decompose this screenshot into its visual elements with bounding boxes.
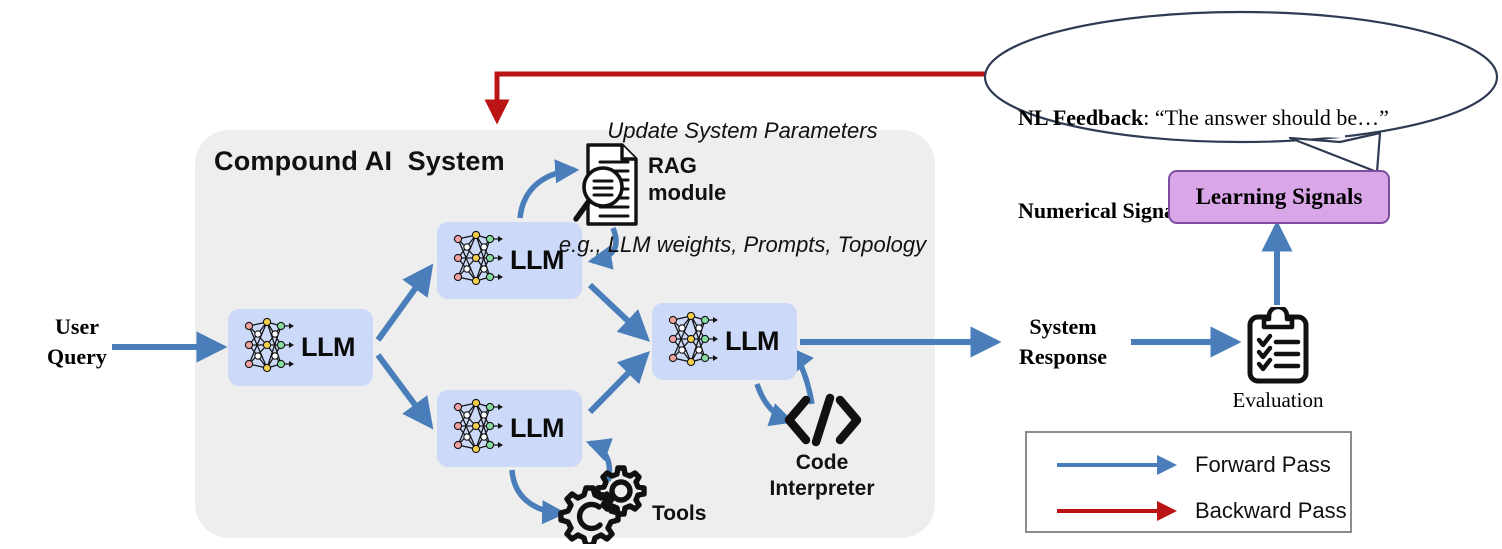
backward-pass-caption: Update System Parameters e.g., LLM weigh… (520, 36, 965, 340)
page-title: Compound AI System (214, 146, 505, 177)
bubble-line-1-bold: NL Feedback (1018, 105, 1143, 130)
learning-signals-box[interactable]: Learning Signals (1168, 170, 1390, 224)
backward-caption-line-2: e.g., LLM weights, Prompts, Topology (520, 226, 965, 264)
user-query-label: User Query (22, 312, 132, 372)
bubble-line-2-bold: Numerical Signals (1018, 198, 1190, 223)
code-interpreter-module[interactable] (782, 392, 864, 453)
tools-module[interactable] (556, 462, 650, 549)
llm-node-label: LLM (301, 332, 355, 363)
llm-node-root[interactable]: LLM (228, 309, 373, 386)
figure-canvas: LLM (0, 0, 1502, 544)
learning-signals-label: Learning Signals (1196, 184, 1363, 210)
neural-network-icon (446, 395, 504, 462)
gears-icon (556, 462, 650, 544)
llm-node-label: LLM (510, 413, 564, 444)
legend-label-forward-pass: Forward Pass (1195, 452, 1331, 478)
feedback-bubble-text: NL Feedback: “The answer should be…” Num… (1018, 40, 1478, 288)
bubble-line-1-rest: : “The answer should be…” (1143, 105, 1389, 130)
tools-label: Tools (652, 502, 706, 526)
arrow-llm-root-to-llm-top (378, 268, 430, 340)
arrow-llm-bottom-to-llm-merge (590, 355, 646, 412)
neural-network-icon (446, 227, 504, 294)
clipboard-check-icon (1243, 307, 1313, 387)
code-interpreter-label: Code Interpreter (747, 450, 897, 502)
backward-pass-arrow-icon (1055, 500, 1185, 522)
code-brackets-icon (782, 392, 864, 448)
arrow-llm-bottom-to-tools (512, 470, 562, 513)
evaluation-module[interactable] (1243, 307, 1313, 392)
legend-item-backward-pass: Backward Pass (1027, 491, 1350, 531)
evaluation-label: Evaluation (1213, 388, 1343, 413)
llm-node-bottom[interactable]: LLM (437, 390, 582, 467)
neural-network-icon (237, 314, 295, 381)
arrow-llm-root-to-llm-bottom (378, 355, 430, 425)
legend: Forward Pass Backward Pass (1025, 431, 1352, 533)
backward-caption-line-1: Update System Parameters (520, 112, 965, 150)
legend-label-backward-pass: Backward Pass (1195, 498, 1347, 524)
legend-item-forward-pass: Forward Pass (1027, 445, 1350, 485)
bubble-line-nl-feedback: NL Feedback: “The answer should be…” (1018, 102, 1478, 133)
system-response-label: System Response (1002, 312, 1124, 372)
forward-pass-arrow-icon (1055, 454, 1185, 476)
